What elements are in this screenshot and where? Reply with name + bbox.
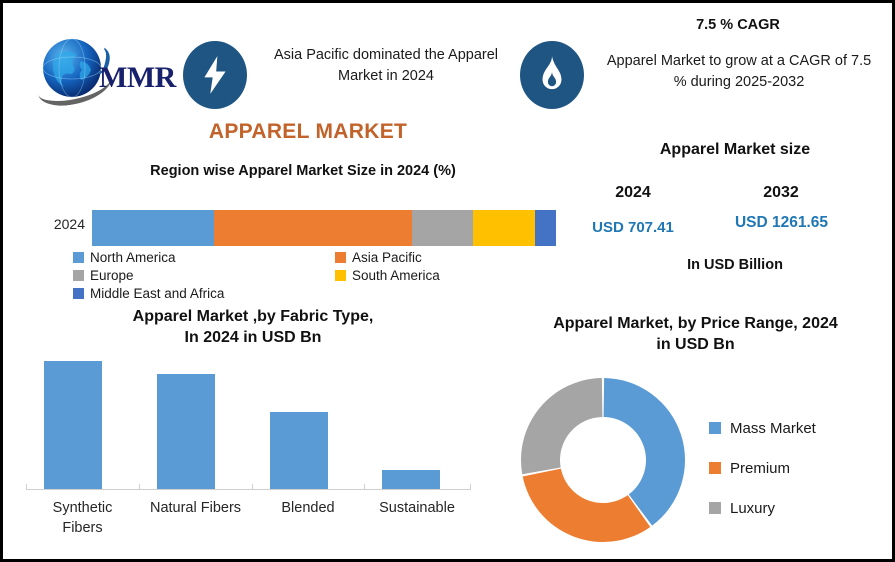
globe-icon	[41, 37, 103, 99]
page-title: APPAREL MARKET	[173, 120, 443, 144]
headline-left: Asia Pacific dominated the Apparel Marke…	[261, 45, 511, 86]
infographic-canvas: ) MMR Asia Pacific dominated the Apparel…	[0, 0, 895, 562]
price-range-donut-chart	[515, 372, 691, 548]
legend-item-south-america: South America	[335, 267, 440, 284]
stack-segment-asia-pacific	[214, 210, 412, 246]
fabric-axis-tick	[252, 484, 253, 490]
swatch-premium	[709, 462, 721, 474]
headline-right: Apparel Market to grow at a CAGR of 7.5 …	[601, 51, 877, 92]
fabric-category-label: Sustainable	[358, 499, 476, 519]
legend-item-mass-market: Mass Market	[709, 408, 879, 448]
fabric-axis-tick	[26, 484, 27, 490]
market-size-value-base: USD 707.41	[568, 219, 698, 236]
price-chart-title: Apparel Market, by Price Range, 2024 in …	[503, 313, 888, 355]
swatch-mass-market	[709, 422, 721, 434]
price-title-line2: in USD Bn	[503, 334, 888, 355]
fabric-category-label: Natural Fibers	[133, 499, 258, 519]
stack-segment-south-america	[473, 210, 534, 246]
fabric-axis-tick	[364, 484, 365, 490]
fabric-chart-title: Apparel Market ,by Fabric Type, In 2024 …	[23, 306, 483, 348]
region-legend: North America Asia Pacific Europe South …	[73, 249, 543, 303]
swatch-south-america	[335, 270, 346, 281]
market-size-year-base: 2024	[578, 184, 688, 202]
mmr-logo: ) MMR	[37, 35, 177, 107]
fabric-axis-line	[26, 489, 470, 490]
swatch-middle-east-africa	[73, 288, 84, 299]
legend-item-asia-pacific: Asia Pacific	[335, 249, 422, 266]
price-title-line1: Apparel Market, by Price Range, 2024	[503, 313, 888, 334]
flame-icon	[520, 41, 584, 109]
fabric-category-label: Blended	[246, 499, 370, 519]
market-size-year-forecast: 2032	[721, 184, 841, 202]
legend-item-luxury: Luxury	[709, 488, 879, 528]
stack-segment-europe	[412, 210, 473, 246]
legend-item-premium: Premium	[709, 448, 879, 488]
stack-segment-north-america	[92, 210, 214, 246]
legend-item-middle-east-africa: Middle East and Africa	[73, 285, 335, 302]
price-legend: Mass Market Premium Luxury	[709, 408, 879, 528]
logo-wordmark: MMR	[99, 61, 176, 95]
donut-slice	[521, 378, 602, 474]
swatch-asia-pacific	[335, 252, 346, 263]
fabric-bar	[382, 470, 440, 489]
fabric-title-line2: In 2024 in USD Bn	[23, 327, 483, 348]
market-size-title: Apparel Market size	[595, 141, 875, 159]
donut-slice	[523, 469, 651, 542]
fabric-category-label: SyntheticFibers	[20, 499, 145, 538]
fabric-bar	[44, 361, 102, 489]
lightning-bolt-icon	[183, 41, 247, 109]
swatch-europe	[73, 270, 84, 281]
region-chart-title: Region wise Apparel Market Size in 2024 …	[33, 163, 573, 179]
fabric-bar	[157, 374, 215, 489]
swatch-north-america	[73, 252, 84, 263]
fabric-bar	[270, 412, 328, 489]
cagr-badge: 7.5 % CAGR	[603, 17, 873, 33]
swatch-luxury	[709, 502, 721, 514]
fabric-bar-chart	[26, 349, 470, 489]
legend-item-north-america: North America	[73, 249, 335, 266]
market-size-unit: In USD Billion	[595, 257, 875, 273]
region-stacked-bar	[92, 210, 556, 246]
fabric-axis-tick	[470, 484, 471, 490]
market-size-value-forecast: USD 1261.65	[709, 214, 854, 232]
region-axis-label: 2024	[37, 216, 85, 232]
legend-item-europe: Europe	[73, 267, 335, 284]
fabric-axis-tick	[139, 484, 140, 490]
fabric-title-line1: Apparel Market ,by Fabric Type,	[23, 306, 483, 327]
stack-segment-middle-east-africa	[535, 210, 556, 246]
